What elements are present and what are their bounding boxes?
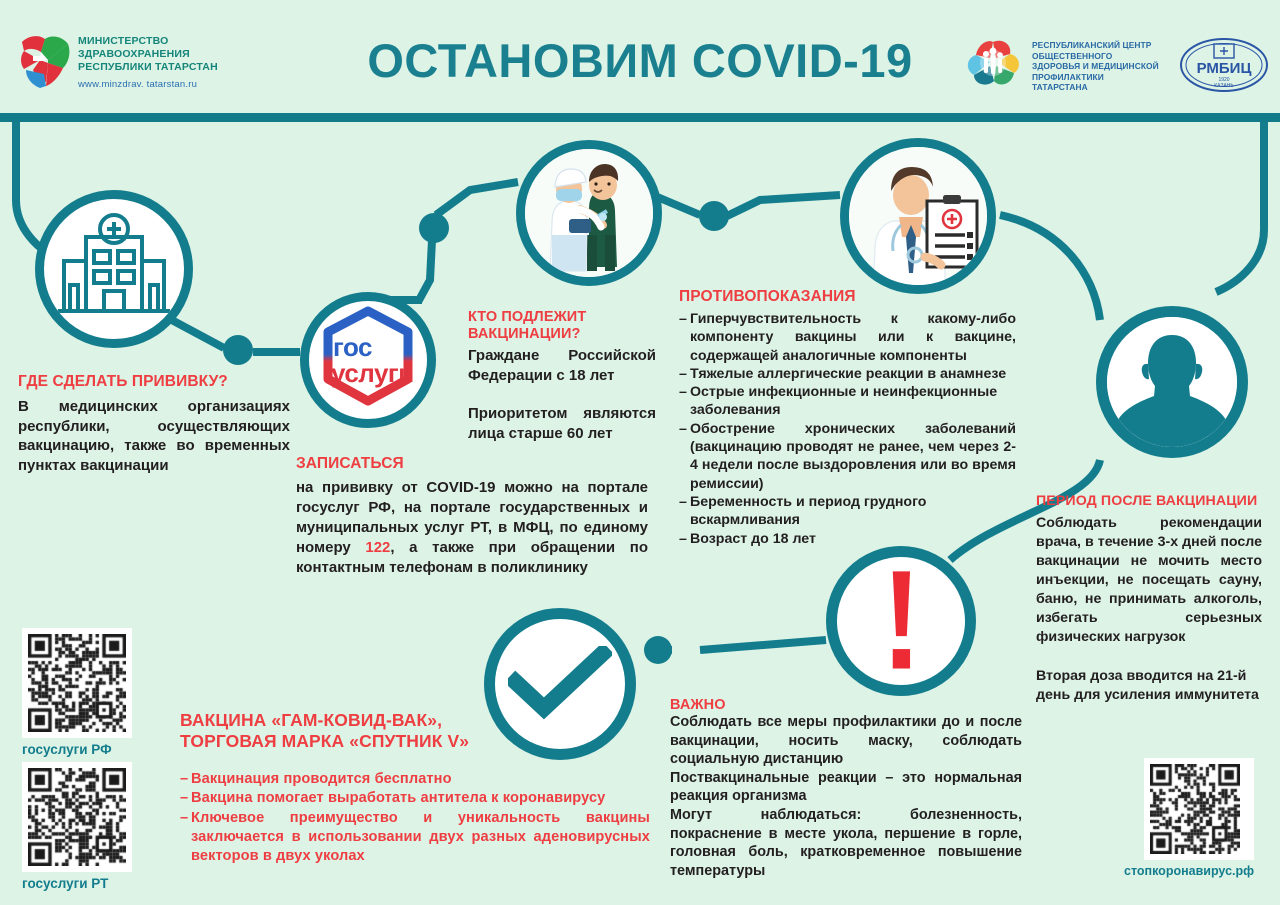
node-vaccination xyxy=(516,140,662,286)
infographic-page: МИНИСТЕРСТВО ЗДРАВООХРАНЕНИЯ РЕСПУБЛИКИ … xyxy=(0,0,1280,905)
block-where-to-vaccinate: ГДЕ СДЕЛАТЬ ПРИВИВКУ? В медицинских орга… xyxy=(18,373,290,475)
contra-item: Острые инфекционные и неинфекционные заб… xyxy=(679,383,1016,420)
signup-heading: ЗАПИСАТЬСЯ xyxy=(296,455,648,473)
important-heading: ВАЖНО xyxy=(670,697,1022,713)
node-warning xyxy=(826,546,976,696)
person-silhouette-icon xyxy=(1107,317,1237,447)
important-para-2: Поствакцинальные реакции – это нормальна… xyxy=(670,769,1022,806)
important-para-3: Могут наблюдаться: болезненность, покрас… xyxy=(670,806,1022,880)
contra-item: Беременность и период грудного вскармлив… xyxy=(679,493,1016,530)
who-heading-line2: ВАКЦИНАЦИИ? xyxy=(468,326,668,343)
qr-block-stopcoronavirus[interactable]: стопкоронавирус.рф xyxy=(1144,758,1254,878)
contra-heading: ПРОТИВОПОКАЗАНИЯ xyxy=(679,288,1016,306)
nurse-vaccinating-patient-icon xyxy=(525,149,653,277)
vaccine-item: Ключевое преимущество и уникальность вак… xyxy=(180,809,650,867)
vaccine-item: Вакцинация проводится бесплатно xyxy=(180,770,650,789)
node-gosuslugi[interactable]: гос услуги xyxy=(300,292,436,428)
after-heading: ПЕРИОД ПОСЛЕ ВАКЦИНАЦИИ xyxy=(1036,493,1262,509)
qr-label: стопкоронавирус.рф xyxy=(1124,864,1254,878)
gosuslugi-text-bottom: услуги xyxy=(331,358,414,389)
block-signup: ЗАПИСАТЬСЯ на прививку от COVID-19 можно… xyxy=(296,455,648,578)
block-who-eligible: КТО ПОДЛЕЖИТ ВАКЦИНАЦИИ? Граждане Россий… xyxy=(468,309,668,443)
node-hospital xyxy=(35,190,193,348)
block-important: ВАЖНО Соблюдать все меры профилактики до… xyxy=(670,697,1022,880)
node-doctor xyxy=(840,138,996,294)
after-body-1: Соблюдать рекомендации врача, в течение … xyxy=(1036,514,1262,647)
node-person xyxy=(1096,306,1248,458)
block-contraindications: ПРОТИВОПОКАЗАНИЯ Гиперчувствительность к… xyxy=(679,288,1016,548)
exclamation-mark-icon xyxy=(869,567,934,675)
vaccine-heading-line1: ВАКЦИНА «ГАМ-КОВИД-ВАК», xyxy=(180,710,650,731)
vaccine-list: Вакцинация проводится бесплатно Вакцина … xyxy=(180,770,650,866)
block-vaccine: ВАКЦИНА «ГАМ-КОВИД-ВАК», ТОРГОВАЯ МАРКА … xyxy=(180,710,650,866)
qr-block-gosuslugi-rf[interactable]: госуслуги РФ xyxy=(22,628,132,757)
where-body: В медицинских организациях республики, о… xyxy=(18,397,290,475)
doctor-with-clipboard-icon xyxy=(849,147,987,285)
qr-code-icon[interactable] xyxy=(1144,758,1254,860)
qr-label: госуслуги РФ xyxy=(22,742,132,757)
after-body-2: Вторая доза вводится на 21-й день для ус… xyxy=(1036,667,1262,705)
vaccine-item: Вакцина помогает выработать антитела к к… xyxy=(180,789,650,808)
who-heading-line1: КТО ПОДЛЕЖИТ xyxy=(468,309,668,326)
hospital-building-icon xyxy=(44,199,184,339)
contra-item: Тяжелые аллергические реакции в анамнезе xyxy=(679,365,1016,383)
vaccine-heading-line2: ТОРГОВАЯ МАРКА «СПУТНИК V» xyxy=(180,731,650,752)
qr-block-gosuslugi-rt[interactable]: госуслуги РТ xyxy=(22,762,132,891)
qr-code-icon[interactable] xyxy=(22,762,132,872)
where-heading: ГДЕ СДЕЛАТЬ ПРИВИВКУ? xyxy=(18,373,290,391)
signup-body: на прививку от COVID-19 можно на портале… xyxy=(296,478,648,578)
signup-phone-number: 122 xyxy=(365,539,390,556)
qr-code-icon[interactable] xyxy=(22,628,132,738)
who-body-priority: Приоритетом являются лица старше 60 лет xyxy=(468,404,656,443)
contra-item: Возраст до 18 лет xyxy=(679,530,1016,548)
contra-item: Гиперчувствительность к какому-либо комп… xyxy=(679,310,1016,365)
gosuslugi-logo-icon: гос услуги xyxy=(309,301,427,419)
qr-label: госуслуги РТ xyxy=(22,876,132,891)
contra-item: Обострение хронических заболеваний (вакц… xyxy=(679,420,1016,493)
important-para-1: Соблюдать все меры профилактики до и пос… xyxy=(670,713,1022,769)
who-body-citizens: Граждане Российской Федерации с 18 лет xyxy=(468,346,656,385)
contra-list: Гиперчувствительность к какому-либо комп… xyxy=(679,310,1016,548)
block-after-vaccination: ПЕРИОД ПОСЛЕ ВАКЦИНАЦИИ Соблюдать рекоме… xyxy=(1036,493,1262,705)
